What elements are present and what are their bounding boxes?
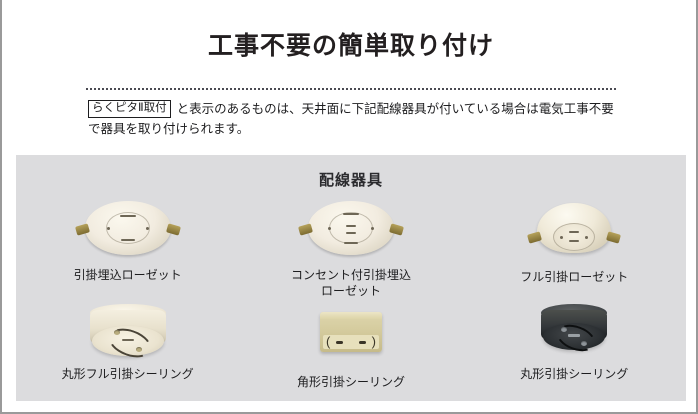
description-block: らくピタⅡ取付と表示のあるものは、天井面に下記配線器具が付いている場合は電気工事… [88,99,616,139]
device-caption: 角形引掛シーリング [239,374,462,390]
device-item-hikkake-umekomi-rosette: 引掛埋込ローゼット [16,197,239,299]
device-caption: 丸形引掛シーリング [463,366,686,382]
page-title: 工事不要の簡単取り付け [2,26,698,62]
round-full-ceiling-icon [16,304,239,360]
device-row-bottom: 丸形フル引掛シーリング ( ) 角形引掛シーリング [16,300,686,390]
device-item-square-ceiling: ( ) 角形引掛シーリング [239,300,462,390]
device-caption: 引掛埋込ローゼット [16,267,239,283]
device-caption: 丸形フル引掛シーリング [16,366,239,382]
device-caption: フル引掛ローゼット [463,269,686,285]
round-ceiling-dark-icon [463,304,686,360]
device-row-top: 引掛埋込ローゼット コンセント付引掛埋込 [16,197,686,299]
rakupita-badge: らくピタⅡ取付 [88,100,171,118]
domed-rosette-icon [463,203,686,265]
device-item-round-ceiling: 丸形引掛シーリング [463,300,686,390]
device-item-full-hikkake-rosette: フル引掛ローゼット [463,197,686,299]
oval-flush-rosette-outlet-icon [239,201,462,263]
dotted-divider [86,88,616,90]
device-item-consent-hikkake-umekomi-rosette: コンセント付引掛埋込 ローゼット [239,197,462,299]
device-item-round-full-ceiling: 丸形フル引掛シーリング [16,300,239,390]
page-container: 工事不要の簡単取り付け らくピタⅡ取付と表示のあるものは、天井面に下記配線器具が… [0,0,698,414]
panel-heading: 配線器具 [16,169,686,190]
square-ceiling-block-icon: ( ) [239,312,462,368]
oval-flush-rosette-icon [16,201,239,263]
wiring-devices-panel: 配線器具 引掛埋込ローゼット [16,155,686,401]
device-caption: コンセント付引掛埋込 ローゼット [239,267,462,299]
